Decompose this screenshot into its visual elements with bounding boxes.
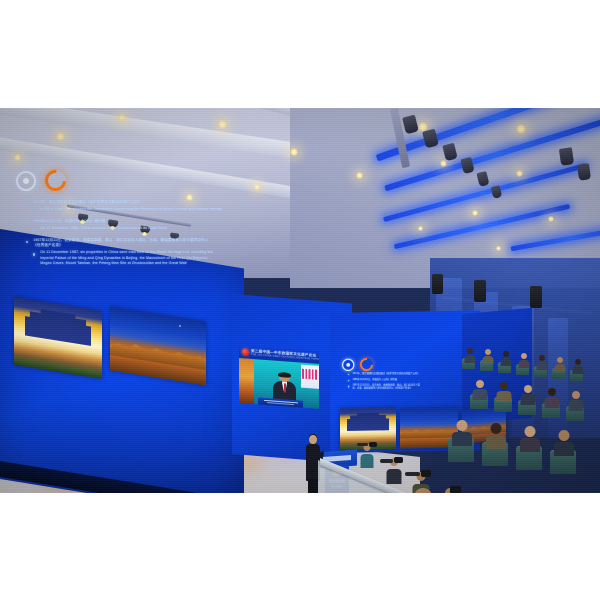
audience-head (524, 385, 532, 393)
audience-head (457, 420, 468, 431)
audience-head (503, 351, 509, 357)
audience-member (544, 388, 559, 406)
audience-body (464, 355, 475, 363)
audience-member (518, 353, 529, 366)
audience-head (557, 357, 563, 363)
camera-body-icon (394, 457, 403, 463)
audience-member (572, 359, 583, 372)
audience-head (572, 391, 580, 399)
audience-head (414, 488, 433, 493)
audience-member (496, 382, 511, 400)
audience-body (482, 356, 493, 364)
audience-head (491, 423, 502, 434)
audience-body (452, 432, 472, 446)
audience-body (554, 442, 574, 456)
audience-head (485, 349, 491, 355)
camera-body-icon (369, 442, 377, 447)
audience-member (472, 380, 487, 398)
audience-body (518, 360, 529, 368)
audience-member (406, 488, 440, 493)
press-photographer (360, 438, 378, 464)
audience-member (520, 385, 535, 403)
audience-body (544, 397, 559, 408)
camera-body-icon (450, 486, 461, 493)
photographer-body (386, 469, 401, 484)
audience-member (452, 420, 472, 444)
audience-member (482, 349, 493, 362)
audience-head (559, 430, 570, 441)
audience-member (568, 391, 583, 409)
audience-body (536, 362, 547, 370)
audience-body (572, 366, 583, 374)
audience-member (486, 423, 506, 447)
press-photographer (438, 480, 462, 493)
audience-head (521, 353, 527, 359)
audience-body (496, 391, 511, 402)
press-photographer (384, 452, 404, 480)
audience-member (500, 351, 511, 364)
audience-member (464, 348, 475, 361)
audience-body (568, 400, 583, 411)
camera-lens-icon (380, 459, 393, 463)
audience-head (539, 355, 545, 361)
audience-head (500, 382, 508, 390)
audience-seating-block (0, 108, 600, 493)
audience-head (525, 426, 536, 437)
audience-member (554, 357, 565, 370)
audience-body (520, 394, 535, 405)
audience-body (520, 438, 540, 452)
camera-body-icon (421, 470, 431, 477)
audience-member (520, 426, 540, 450)
audience-body (486, 435, 506, 449)
audience-body (500, 358, 511, 366)
audience-head (476, 380, 484, 388)
audience-head (575, 359, 581, 365)
audience-body (554, 364, 565, 372)
conference-hall-photo: 1972年，联合国教科文组织通过《保护世界文化和自然遗产公约》 In 1972,… (0, 108, 600, 493)
camera-lens-icon (357, 443, 368, 446)
audience-head (548, 388, 556, 396)
photographer-body (361, 454, 374, 468)
audience-member (554, 430, 574, 454)
audience-body (472, 389, 487, 400)
camera-lens-icon (405, 472, 420, 476)
screenshot-canvas: 1972年，联合国教科文组织通过《保护世界文化和自然遗产公约》 In 1972,… (0, 0, 600, 600)
audience-head (467, 348, 473, 354)
audience-member (536, 355, 547, 368)
